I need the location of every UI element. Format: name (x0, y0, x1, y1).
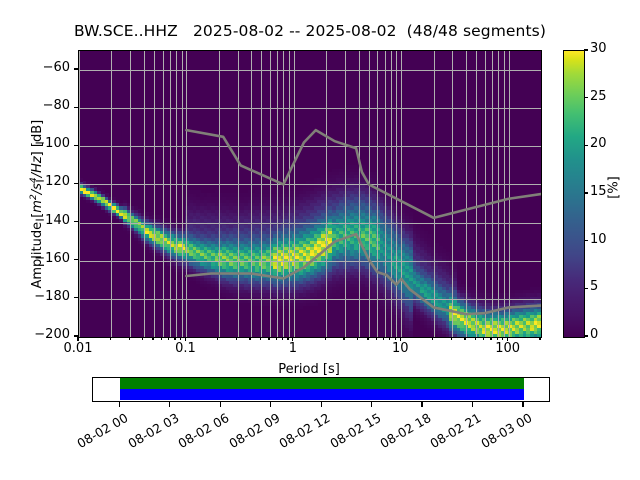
histogram-cell (427, 234, 431, 238)
colorbar[interactable] (563, 50, 585, 338)
colorbar-tick-label: 25 (590, 89, 607, 104)
gridline-vertical (504, 51, 505, 337)
y-tick-mark (74, 297, 78, 298)
timeline-tick-mark (421, 402, 422, 407)
gridline-vertical (498, 51, 499, 337)
x-tick-mark-minor (260, 337, 261, 340)
colorbar-tick-mark (584, 240, 588, 241)
x-tick-mark-minor (174, 337, 175, 340)
gridline-vertical (396, 51, 397, 337)
x-tick-mark-minor (236, 337, 237, 340)
gridline-vertical (466, 51, 467, 337)
timeline-coverage-bar-upper (120, 378, 524, 389)
gridline-vertical (485, 51, 486, 337)
gridline-vertical (251, 51, 252, 337)
gridline-vertical (401, 51, 402, 337)
colorbar-tick-mark (584, 335, 588, 336)
x-tick-mark-minor (383, 337, 384, 340)
gridline-vertical (434, 51, 435, 337)
gridline-vertical (154, 51, 155, 337)
ppsd-plot-axes[interactable] (78, 50, 542, 338)
x-tick-mark-minor (451, 337, 452, 340)
x-tick-label: 10 (360, 341, 440, 356)
x-axis-label: Period [s] (78, 362, 540, 377)
gridline-vertical (541, 51, 542, 337)
y-axis-label: Amplitude [m2/s4/Hz] [dB] (29, 74, 45, 334)
gridline-vertical (277, 51, 278, 337)
x-tick-mark-minor (325, 337, 326, 340)
gridline-vertical (163, 51, 164, 337)
ppsd-histogram (79, 51, 541, 337)
histogram-cell (409, 212, 413, 216)
gridline-vertical (452, 51, 453, 337)
x-tick-mark-minor (343, 337, 344, 340)
colorbar-tick-mark (584, 145, 588, 146)
y-tick-mark (74, 145, 78, 146)
colorbar-tick-label: 30 (590, 41, 607, 56)
y-tick-mark (74, 221, 78, 222)
gridline-vertical (359, 51, 360, 337)
gridline-vertical (476, 51, 477, 337)
colorbar-tick-label: 10 (590, 232, 607, 247)
x-tick-mark-minor (249, 337, 250, 340)
gridline-vertical (182, 51, 183, 337)
gridline-horizontal (79, 299, 541, 300)
x-tick-mark-minor (110, 337, 111, 340)
x-tick-mark-minor (490, 337, 491, 340)
x-tick-mark-minor (539, 337, 540, 340)
gridline-horizontal (79, 184, 541, 185)
gridline-vertical (385, 51, 386, 337)
gridline-horizontal (79, 223, 541, 224)
y-tick-mark (74, 107, 78, 108)
x-tick-label: 1 (253, 341, 333, 356)
x-tick-mark-minor (268, 337, 269, 340)
colorbar-tick-label: 20 (590, 136, 607, 151)
x-tick-mark-minor (161, 337, 162, 340)
timeline-tick-mark (119, 402, 120, 407)
x-tick-mark-minor (142, 337, 143, 340)
timeline-tick-mark (472, 402, 473, 407)
timeline-tick-mark (169, 402, 170, 407)
x-tick-mark-minor (287, 337, 288, 340)
gridline-vertical (391, 51, 392, 337)
colorbar-tick-mark (584, 97, 588, 98)
timeline-coverage-bar-lower (120, 389, 524, 400)
x-tick-mark-minor (168, 337, 169, 340)
gridline-vertical (176, 51, 177, 337)
x-tick-mark-minor (276, 337, 277, 340)
x-tick-mark-minor (129, 337, 130, 340)
gridline-horizontal (79, 337, 541, 338)
gridline-vertical (509, 51, 510, 337)
timeline-tick-mark (270, 402, 271, 407)
gridline-vertical (238, 51, 239, 337)
y-tick-mark (74, 183, 78, 184)
gridline-vertical (130, 51, 131, 337)
gridline-vertical (326, 51, 327, 337)
x-tick-mark-minor (357, 337, 358, 340)
x-tick-label: 100 (468, 341, 548, 356)
gridline-vertical (186, 51, 187, 337)
x-tick-mark-minor (464, 337, 465, 340)
x-tick-mark-minor (475, 337, 476, 340)
x-tick-mark-minor (432, 337, 433, 340)
data-coverage-timeline[interactable] (92, 377, 550, 402)
gridline-vertical (492, 51, 493, 337)
x-tick-mark-minor (217, 337, 218, 340)
colorbar-tick-label: 0 (590, 327, 598, 342)
x-tick-label: 0.1 (145, 341, 225, 356)
gridline-vertical (170, 51, 171, 337)
x-tick-mark-minor (152, 337, 153, 340)
x-tick-mark-minor (502, 337, 503, 340)
x-tick-mark-minor (376, 337, 377, 340)
y-tick-mark (74, 68, 78, 69)
gridline-vertical (377, 51, 378, 337)
gridline-vertical (345, 51, 346, 337)
gridline-vertical (369, 51, 370, 337)
colorbar-tick-mark (584, 288, 588, 289)
x-tick-mark-minor (395, 337, 396, 340)
x-tick-mark-minor (497, 337, 498, 340)
colorbar-tick-label: 15 (590, 184, 607, 199)
gridline-vertical (294, 51, 295, 337)
gridline-vertical (289, 51, 290, 337)
colorbar-label: [%] (607, 148, 622, 228)
x-tick-label: 0.01 (38, 341, 118, 356)
x-tick-mark-minor (389, 337, 390, 340)
x-tick-mark-minor (483, 337, 484, 340)
timeline-tick-mark (220, 402, 221, 407)
timeline-tick-mark (522, 402, 523, 407)
gridline-horizontal (79, 70, 541, 71)
y-tick-mark (74, 259, 78, 260)
colorbar-tick-mark (584, 192, 588, 193)
x-tick-mark-minor (282, 337, 283, 340)
gridline-vertical (261, 51, 262, 337)
gridline-horizontal (79, 261, 541, 262)
gridline-horizontal (79, 146, 541, 147)
gridline-vertical (270, 51, 271, 337)
gridline-vertical (111, 51, 112, 337)
x-tick-mark-minor (367, 337, 368, 340)
page-title: BW.SCE..HHZ 2025-08-02 -- 2025-08-02 (48… (0, 22, 620, 40)
gridline-vertical (283, 51, 284, 337)
x-tick-mark-minor (180, 337, 181, 340)
timeline-tick-mark (321, 402, 322, 407)
timeline-tick-mark (371, 402, 372, 407)
colorbar-tick-mark (584, 49, 588, 50)
gridline-horizontal (79, 108, 541, 109)
y-tick-label: −60 (8, 60, 70, 75)
gridline-vertical (79, 51, 80, 337)
gridline-vertical (144, 51, 145, 337)
gridline-vertical (219, 51, 220, 337)
colorbar-tick-label: 5 (590, 279, 598, 294)
